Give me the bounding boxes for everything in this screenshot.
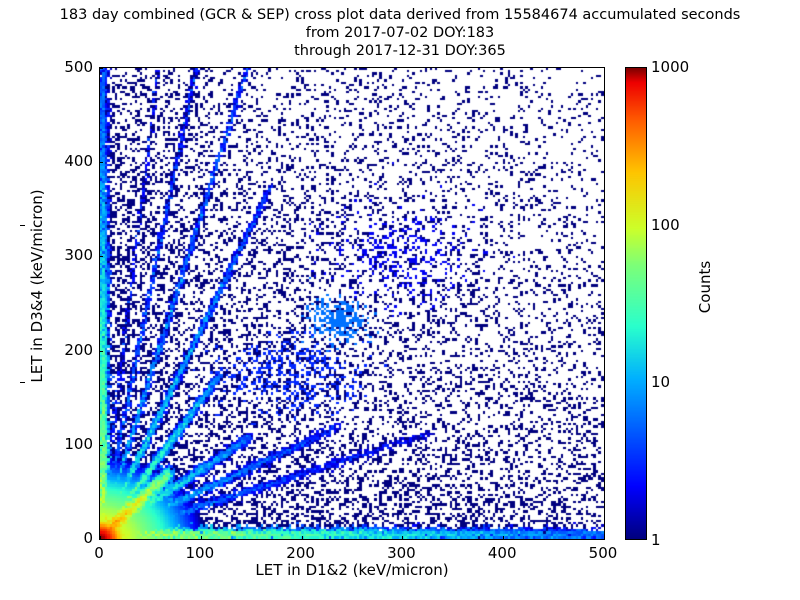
x-axis-label: LET in D1&2 (keV/micron) <box>99 561 605 579</box>
colorbar <box>625 67 647 540</box>
x-tick-400 <box>503 536 504 540</box>
figure-canvas: 183 day combined (GCR & SEP) cross plot … <box>0 0 800 600</box>
y-tick-0 <box>99 539 103 540</box>
colorbar-label: Counts <box>696 187 714 387</box>
figure-title: 183 day combined (GCR & SEP) cross plot … <box>0 6 800 60</box>
y-ticklabel-300: 300 <box>47 246 93 264</box>
y-ticklabel-400: 400 <box>47 152 93 170</box>
y-tick-200 <box>99 351 103 352</box>
y-ticklabel-100: 100 <box>47 435 93 453</box>
x-ticklabel-200: 200 <box>286 544 315 562</box>
colorbar-ticklabel-100: 100 <box>651 216 680 234</box>
title-line-2: from 2017-07-02 DOY:183 <box>0 24 800 42</box>
y-tick-400 <box>99 162 103 163</box>
title-line-1: 183 day combined (GCR & SEP) cross plot … <box>0 6 800 24</box>
y-ticklabel-500: 500 <box>47 58 93 76</box>
y-tick-300 <box>99 256 103 257</box>
y-tick-500 <box>99 68 103 69</box>
x-tick-300 <box>402 536 403 540</box>
colorbar-gradient <box>626 68 646 539</box>
scatter-heatmap <box>100 68 604 539</box>
colorbar-ticklabel-1000: 1000 <box>651 58 689 76</box>
x-tick-200 <box>302 536 303 540</box>
y-ticklabel-0: 0 <box>47 529 93 547</box>
colorbar-tick-100 <box>20 225 25 226</box>
x-ticklabel-400: 400 <box>488 544 517 562</box>
colorbar-ticklabel-10: 10 <box>651 373 670 391</box>
x-ticklabel-100: 100 <box>185 544 214 562</box>
y-tick-100 <box>99 445 103 446</box>
x-ticklabel-500: 500 <box>589 544 618 562</box>
plot-area <box>99 67 605 540</box>
x-ticklabel-0: 0 <box>94 544 104 562</box>
x-tick-100 <box>201 536 202 540</box>
x-tick-500 <box>604 536 605 540</box>
x-ticklabel-300: 300 <box>387 544 416 562</box>
colorbar-ticklabel-1: 1 <box>651 531 661 549</box>
y-ticklabel-200: 200 <box>47 341 93 359</box>
y-axis-label: LET in D3&4 (keV/micron) <box>28 136 46 436</box>
colorbar-tick-10 <box>20 382 25 383</box>
